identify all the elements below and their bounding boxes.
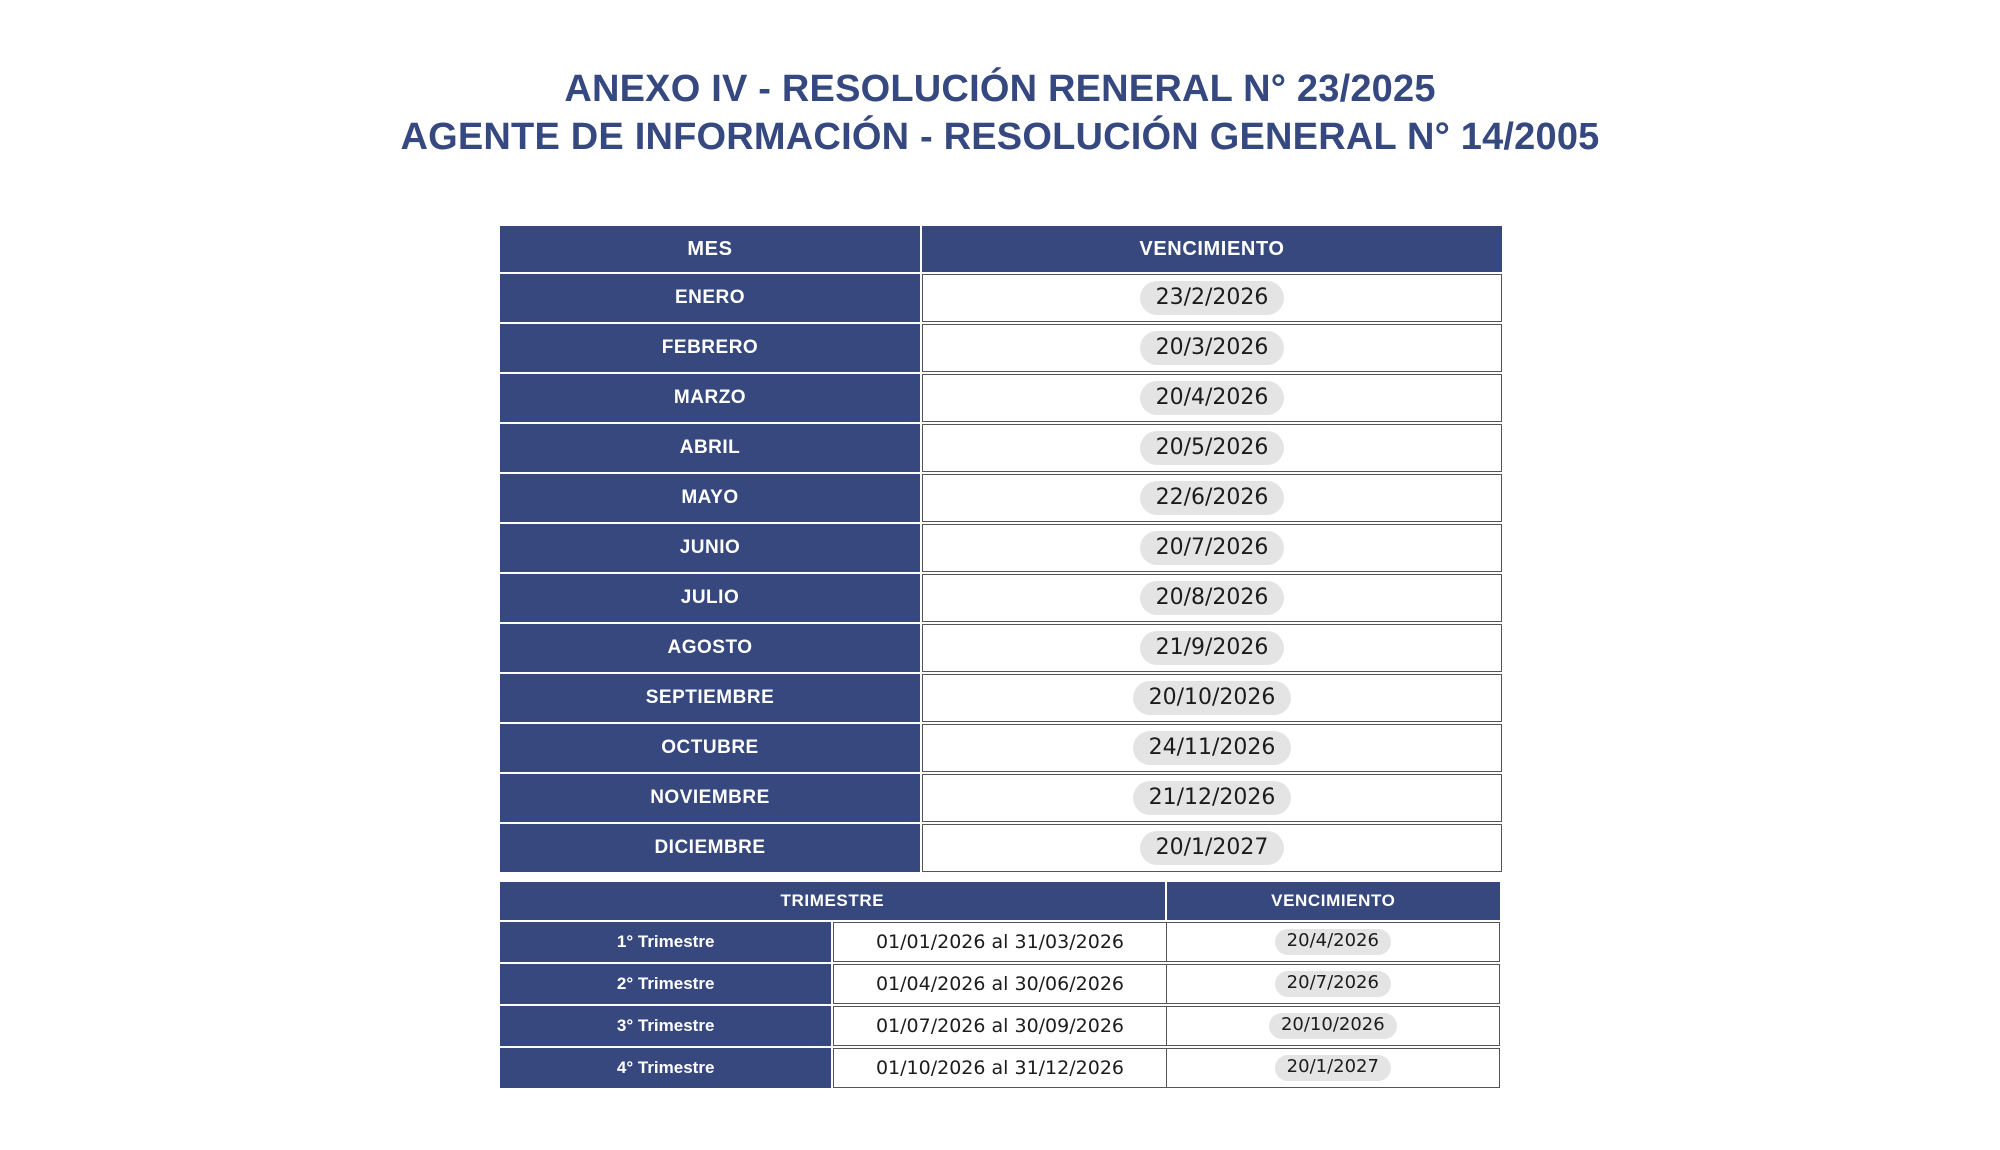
quarter-due-date-cell: 20/4/2026 (1167, 922, 1500, 962)
due-date-cell: 20/4/2026 (922, 374, 1502, 422)
table-row: JUNIO20/7/2026 (500, 524, 1502, 572)
page-title-line-1: ANEXO IV - RESOLUCIÓN RENERAL N° 23/2025 (0, 66, 2000, 114)
monthly-table-head: MES VENCIMIENTO (500, 226, 1502, 272)
quarter-due-date-cell: 20/10/2026 (1167, 1006, 1500, 1046)
due-date-badge: 20/1/2027 (1140, 831, 1285, 865)
due-date-badge: 20/4/2026 (1140, 381, 1285, 415)
table-row: 4° Trimestre01/10/2026 al 31/12/202620/1… (500, 1048, 1500, 1088)
quarterly-table-body: 1° Trimestre01/01/2026 al 31/03/202620/4… (500, 922, 1500, 1088)
month-name-cell: AGOSTO (500, 624, 922, 672)
due-date-badge: 21/9/2026 (1140, 631, 1285, 665)
column-header-mes: MES (500, 226, 922, 272)
quarter-name-cell: 2° Trimestre (500, 964, 833, 1004)
quarter-due-date-badge: 20/4/2026 (1275, 929, 1391, 955)
table-row: 1° Trimestre01/01/2026 al 31/03/202620/4… (500, 922, 1500, 962)
quarter-due-date-cell: 20/7/2026 (1167, 964, 1500, 1004)
quarter-period-cell: 01/10/2026 al 31/12/2026 (833, 1048, 1166, 1088)
due-date-badge: 24/11/2026 (1133, 731, 1292, 765)
quarter-name-cell: 1° Trimestre (500, 922, 833, 962)
due-date-cell: 22/6/2026 (922, 474, 1502, 522)
due-date-cell: 23/2/2026 (922, 274, 1502, 322)
table-row: 3° Trimestre01/07/2026 al 30/09/202620/1… (500, 1006, 1500, 1046)
month-name-cell: ABRIL (500, 424, 922, 472)
quarterly-table-header-row: TRIMESTRE VENCIMIENTO (500, 882, 1500, 920)
quarter-due-date-badge: 20/7/2026 (1275, 971, 1391, 997)
due-date-cell: 20/10/2026 (922, 674, 1502, 722)
page-title-line-2: AGENTE DE INFORMACIÓN - RESOLUCIÓN GENER… (0, 114, 2000, 162)
table-row: MARZO20/4/2026 (500, 374, 1502, 422)
month-name-cell: NOVIEMBRE (500, 774, 922, 822)
column-header-trimestre-vencimiento: VENCIMIENTO (1167, 882, 1500, 920)
due-date-badge: 20/10/2026 (1133, 681, 1292, 715)
due-date-cell: 21/12/2026 (922, 774, 1502, 822)
due-date-cell: 20/5/2026 (922, 424, 1502, 472)
document-page: ANEXO IV - RESOLUCIÓN RENERAL N° 23/2025… (0, 0, 2000, 1150)
due-date-cell: 20/7/2026 (922, 524, 1502, 572)
due-date-cell: 20/1/2027 (922, 824, 1502, 872)
table-row: FEBRERO20/3/2026 (500, 324, 1502, 372)
due-date-badge: 20/5/2026 (1140, 431, 1285, 465)
monthly-due-dates-table: MES VENCIMIENTO ENERO23/2/2026FEBRERO20/… (500, 224, 1502, 874)
due-date-cell: 21/9/2026 (922, 624, 1502, 672)
month-name-cell: JULIO (500, 574, 922, 622)
due-date-badge: 23/2/2026 (1140, 281, 1285, 315)
due-date-cell: 20/3/2026 (922, 324, 1502, 372)
monthly-table-body: ENERO23/2/2026FEBRERO20/3/2026MARZO20/4/… (500, 274, 1502, 872)
table-row: AGOSTO21/9/2026 (500, 624, 1502, 672)
table-row: 2° Trimestre01/04/2026 al 30/06/202620/7… (500, 964, 1500, 1004)
quarter-period-cell: 01/04/2026 al 30/06/2026 (833, 964, 1166, 1004)
quarter-due-date-cell: 20/1/2027 (1167, 1048, 1500, 1088)
month-name-cell: DICIEMBRE (500, 824, 922, 872)
due-date-cell: 20/8/2026 (922, 574, 1502, 622)
column-header-trimestre: TRIMESTRE (500, 882, 1167, 920)
page-title: ANEXO IV - RESOLUCIÓN RENERAL N° 23/2025… (0, 66, 2000, 162)
due-date-cell: 24/11/2026 (922, 724, 1502, 772)
due-date-badge: 20/8/2026 (1140, 581, 1285, 615)
quarter-name-cell: 3° Trimestre (500, 1006, 833, 1046)
month-name-cell: JUNIO (500, 524, 922, 572)
monthly-table-header-row: MES VENCIMIENTO (500, 226, 1502, 272)
quarter-name-cell: 4° Trimestre (500, 1048, 833, 1088)
month-name-cell: ENERO (500, 274, 922, 322)
quarterly-due-dates-table: TRIMESTRE VENCIMIENTO 1° Trimestre01/01/… (500, 880, 1500, 1090)
due-date-badge: 21/12/2026 (1133, 781, 1292, 815)
column-header-vencimiento: VENCIMIENTO (922, 226, 1502, 272)
table-row: MAYO22/6/2026 (500, 474, 1502, 522)
quarter-due-date-badge: 20/1/2027 (1275, 1055, 1391, 1081)
month-name-cell: FEBRERO (500, 324, 922, 372)
table-row: OCTUBRE24/11/2026 (500, 724, 1502, 772)
table-row: DICIEMBRE20/1/2027 (500, 824, 1502, 872)
table-row: SEPTIEMBRE20/10/2026 (500, 674, 1502, 722)
quarterly-table-head: TRIMESTRE VENCIMIENTO (500, 882, 1500, 920)
quarter-period-cell: 01/07/2026 al 30/09/2026 (833, 1006, 1166, 1046)
table-row: NOVIEMBRE21/12/2026 (500, 774, 1502, 822)
quarter-due-date-badge: 20/10/2026 (1269, 1013, 1397, 1039)
quarter-period-cell: 01/01/2026 al 31/03/2026 (833, 922, 1166, 962)
month-name-cell: MAYO (500, 474, 922, 522)
table-row: ABRIL20/5/2026 (500, 424, 1502, 472)
month-name-cell: SEPTIEMBRE (500, 674, 922, 722)
due-date-badge: 22/6/2026 (1140, 481, 1285, 515)
due-date-badge: 20/3/2026 (1140, 331, 1285, 365)
table-row: ENERO23/2/2026 (500, 274, 1502, 322)
month-name-cell: MARZO (500, 374, 922, 422)
due-date-badge: 20/7/2026 (1140, 531, 1285, 565)
month-name-cell: OCTUBRE (500, 724, 922, 772)
table-row: JULIO20/8/2026 (500, 574, 1502, 622)
